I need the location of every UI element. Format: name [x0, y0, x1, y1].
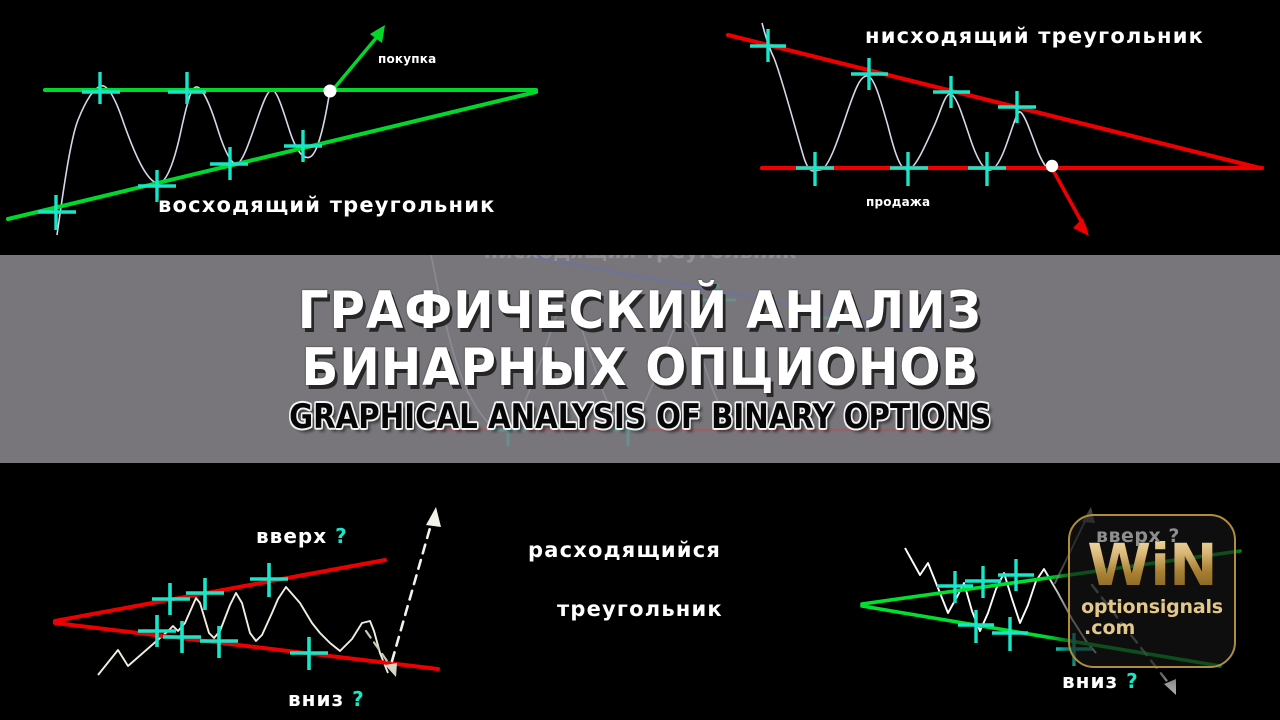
price-line-ascending	[57, 86, 329, 235]
screenshot-root: восходящий треугольник покупка	[0, 0, 1280, 720]
resistance-line-symmetrical	[55, 560, 385, 621]
pivot-markers-ascending	[38, 72, 322, 230]
chart-symmetrical-triangle	[0, 463, 840, 720]
chart-descending-triangle	[640, 0, 1280, 255]
logo-domain-text: .com	[1084, 618, 1135, 640]
title-banner: нисходящий треугольник продажа ГРАФИЧЕСК…	[0, 255, 1280, 463]
resistance-line-descending	[728, 35, 1260, 168]
banner-title-line1: ГРАФИЧЕСКИЙ АНАЛИЗ	[298, 286, 982, 337]
breakdown-arrow-down-dashed	[366, 631, 397, 677]
chart-ascending-triangle	[0, 0, 640, 255]
logo-site-text: optionsignals	[1081, 598, 1223, 618]
breakdown-arrow-descending	[1046, 160, 1089, 236]
price-line-descending	[762, 23, 1052, 171]
logo-brand-text: WiN	[1087, 536, 1216, 594]
breakout-arrow-ascending	[324, 25, 386, 98]
banner-title-line2: БИНАРНЫХ ОПЦИОНОВ	[301, 343, 979, 394]
support-line-symmetrical	[55, 623, 438, 669]
pivot-markers-symmetrical	[138, 563, 328, 670]
breakout-arrow-up-dashed	[392, 507, 441, 661]
banner-subtitle: GRAPHICAL ANALYSIS OF BINARY OPTIONS	[289, 400, 991, 434]
watermark-logo[interactable]: WiN optionsignals .com	[1068, 514, 1236, 668]
support-line-ascending	[8, 92, 536, 219]
